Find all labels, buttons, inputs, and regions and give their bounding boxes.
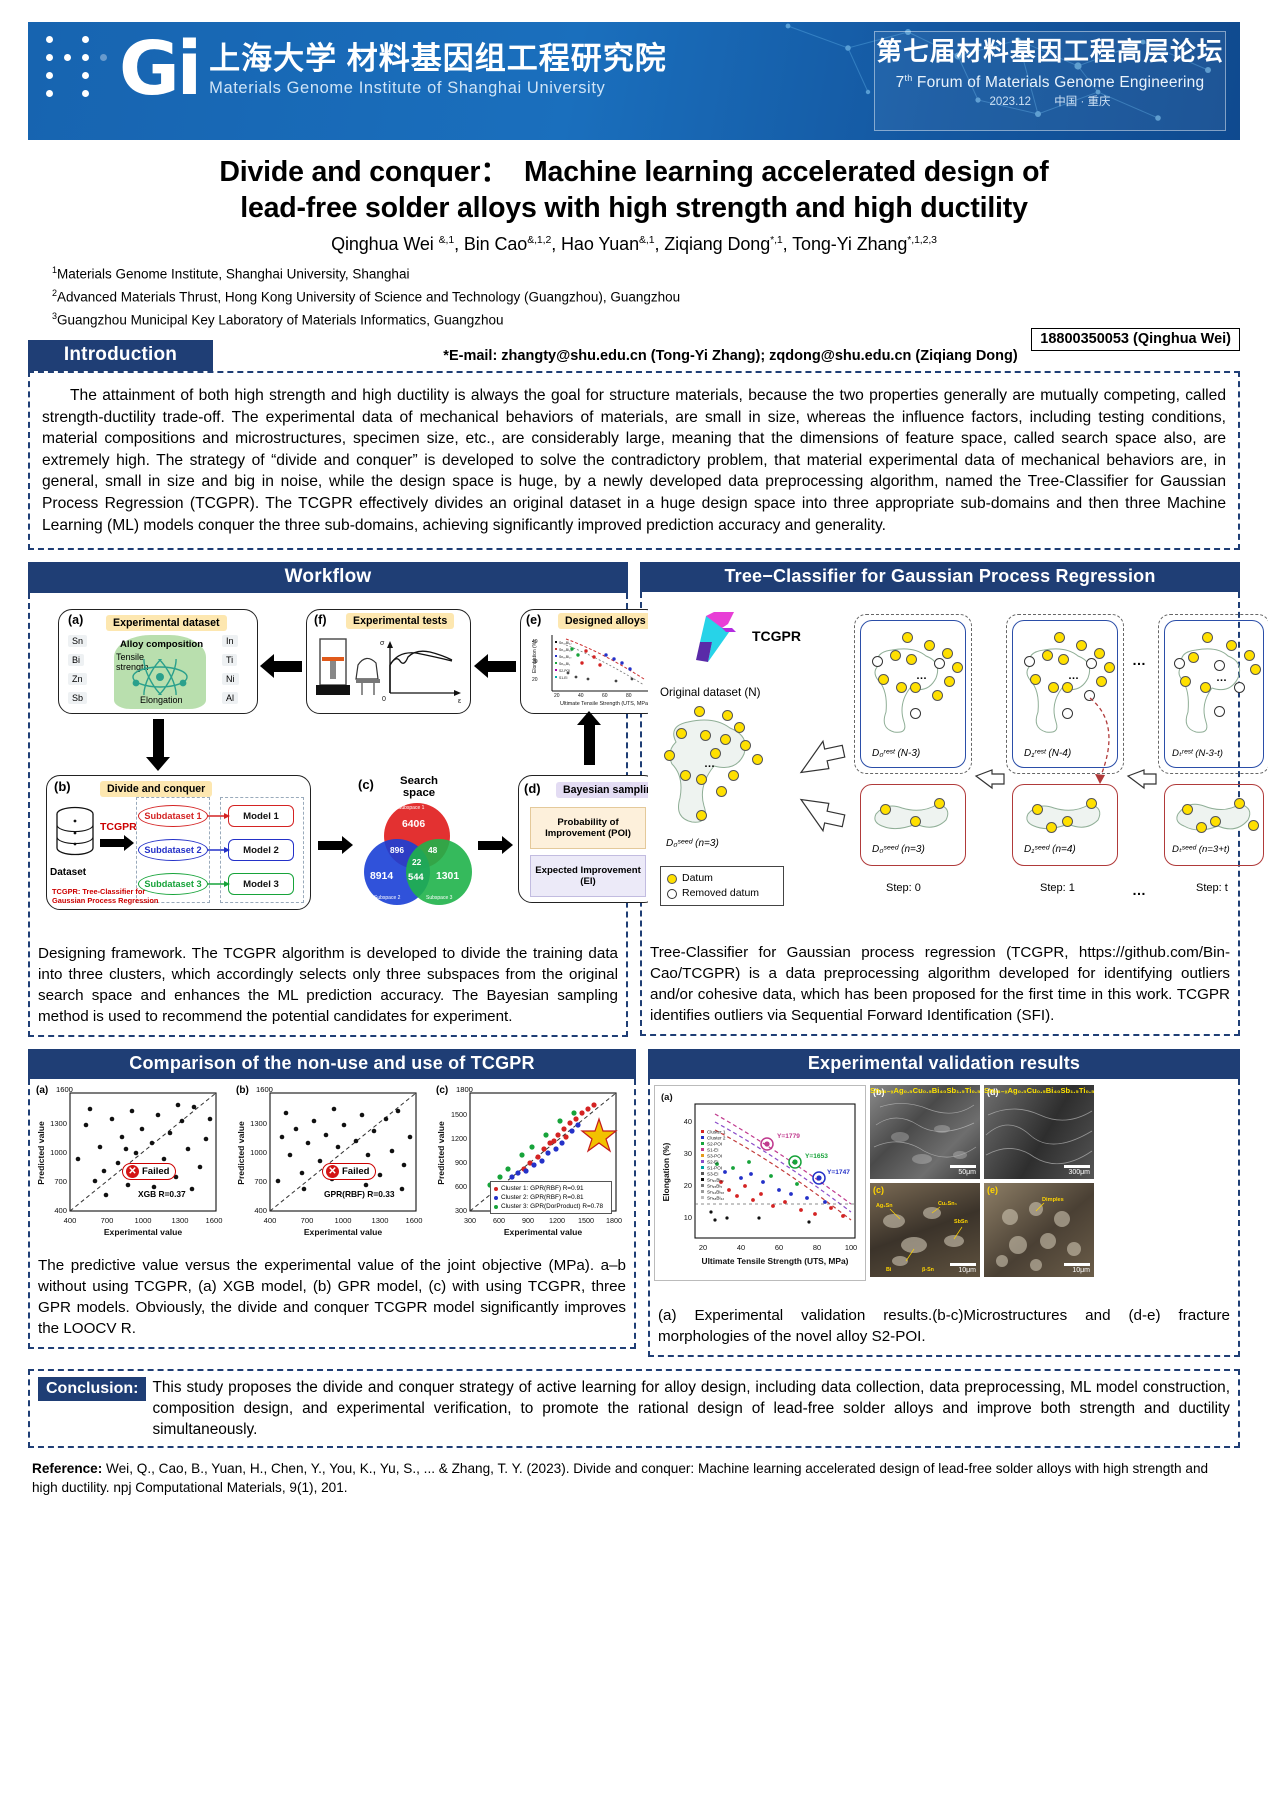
failed-x-icon: ✕: [126, 1165, 139, 1178]
svg-text:Sn₉₀Bi₁₀: Sn₉₀Bi₁₀: [559, 655, 572, 659]
svg-text:Elongation (%): Elongation (%): [661, 1143, 671, 1202]
sem-image-b: (b) Sn₅₈₋ₓAg₀.₅Cu₀.₅Bi₄₀Sb₁.₅Ti₀.₅: [870, 1085, 980, 1179]
element-chip-ni: Ni: [222, 673, 239, 685]
svg-text:600: 600: [493, 1216, 505, 1225]
svg-text:Experimental value: Experimental value: [304, 1227, 383, 1237]
venn-label-subspace-3: Subspace 3: [426, 895, 452, 901]
svg-text:Dimples: Dimples: [1042, 1197, 1064, 1203]
bottom-columns: Comparison of the non-use and use of TCG…: [28, 1049, 1240, 1357]
svg-text:1300: 1300: [250, 1119, 267, 1128]
svg-text:20: 20: [554, 693, 560, 699]
blob-term-elongation: Elongation: [140, 695, 183, 705]
arrow-d-to-e: [584, 723, 595, 765]
cluster3-swatch-icon: [494, 1205, 498, 1209]
svg-text:300: 300: [455, 1206, 467, 1215]
forum-date: 2023.12: [989, 96, 1031, 108]
workflow-tag-e: Designed alloys: [558, 613, 653, 629]
reference-text: Wei, Q., Cao, B., Yuan, H., Chen, Y., Yo…: [32, 1461, 1208, 1495]
svg-text:S1-EI: S1-EI: [707, 1148, 719, 1153]
arrowhead-dataset: [124, 835, 134, 851]
arrow-b-to-c: [318, 841, 344, 850]
section-header-comparison: Comparison of the non-use and use of TCG…: [28, 1049, 636, 1079]
original-dataset-label: Original dataset (N): [660, 686, 761, 699]
svg-text:1300: 1300: [372, 1216, 389, 1225]
element-chip-bi: Bi: [68, 654, 84, 666]
forum-title-en: 7th Forum of Materials Genome Engineerin…: [875, 68, 1225, 93]
validation-figures: (a) 40302010 204060 80100 Ultimate Tensi…: [650, 1079, 1238, 1287]
atom-icon: [128, 659, 192, 695]
chart-c-legend: Cluster 1: GPR(RBF) R=0.91 Cluster 2: GP…: [490, 1181, 612, 1214]
legend-row-cluster-3: Cluster 3: GPR(DorProduct) R=0.78: [494, 1202, 608, 1211]
svg-text:Y=1779: Y=1779: [777, 1133, 800, 1140]
svg-text:Y=1653: Y=1653: [805, 1153, 828, 1160]
stept-label: Step: t: [1196, 882, 1228, 894]
svg-text:400: 400: [54, 1206, 67, 1215]
tcgpr-panel: TCGPR Original dataset (N): [640, 592, 1240, 1036]
arrow-f-to-a: [272, 661, 302, 672]
sem-scale-c: 10μm: [958, 1267, 976, 1274]
original-cluster-outline: [658, 702, 808, 832]
mid-columns: Workflow (a) Experimental dataset Alloy …: [28, 562, 1240, 1037]
forum-badge: 第七届材料基因工程高层论坛 7th Forum of Materials Gen…: [874, 31, 1226, 131]
legend-label-removed: Removed datum: [682, 886, 759, 901]
forum-meta: 2023.12 中国 · 重庆: [875, 94, 1225, 111]
model-2: Model 2: [228, 839, 294, 861]
venn-value-6406: 6406: [402, 819, 425, 830]
validation-column: Experimental validation results (a) 4030…: [648, 1049, 1240, 1357]
author-list: Qinghua Wei &,1, Bin Cao&,1,2, Hao Yuan&…: [28, 234, 1240, 255]
svg-text:1200: 1200: [451, 1134, 467, 1143]
dot-grid-icon: [46, 36, 111, 101]
sem-scale-d: 300μm: [1068, 1169, 1090, 1176]
reference-label: Reference:: [32, 1461, 102, 1476]
arrowhead-d-to-e: [577, 711, 601, 725]
scalebar-icon-b: [950, 1165, 976, 1168]
svg-text:20: 20: [532, 677, 538, 683]
chart-a-r-note: XGB R=0.37: [138, 1189, 186, 1199]
poster-root: Gi 上海大学 材料基因组工程研究院 Materials Genome Inst…: [0, 22, 1268, 1815]
svg-text:1200: 1200: [549, 1216, 565, 1225]
comparison-charts: (a) 1600 400700100013001600 400700100013…: [30, 1079, 634, 1247]
sem-image-d: (d) Sn₅₈₋ₓAg₀.₅Cu₀.₅Bi₄₀Sb₁.₅Ti₀.₅ 3: [984, 1085, 1094, 1179]
affiliation-item: 1Materials Genome Institute, Shanghai Un…: [52, 261, 1240, 284]
legend-row-cluster-2: Cluster 2: GPR(RBF) R=0.81: [494, 1193, 608, 1202]
workflow-label-b: (b): [54, 779, 71, 794]
element-chip-sn: Sn: [68, 635, 87, 647]
svg-text:ε: ε: [458, 698, 461, 705]
workflow-label-e: (e): [526, 613, 541, 627]
scalebar-icon-e: [1064, 1263, 1090, 1266]
validation-panel: (a) 40302010 204060 80100 Ultimate Tensi…: [648, 1079, 1240, 1357]
arrowhead-f-to-a: [260, 654, 274, 678]
svg-text:SbSn: SbSn: [954, 1219, 968, 1225]
ellipsis-dots: …: [1216, 672, 1227, 684]
subdataset-to-model-arrows: [206, 803, 232, 901]
svg-text:40: 40: [578, 693, 584, 699]
svg-text:1000: 1000: [50, 1148, 67, 1157]
venn-value-8914: 8914: [370, 871, 393, 882]
venn-value-48: 48: [428, 845, 437, 855]
svg-text:700: 700: [254, 1177, 267, 1186]
dataset-label: Dataset: [50, 867, 86, 878]
venn-label-subspace-1: Subspace 1: [398, 805, 424, 811]
svg-text:300: 300: [464, 1216, 476, 1225]
chart-c: (c) 1800 300600900 120015001800 30060090…: [434, 1085, 630, 1245]
split-arrows-icon: [796, 708, 852, 858]
scalebar-icon-d: [1064, 1165, 1090, 1168]
element-chip-al: Al: [222, 692, 238, 704]
svg-text:S3-EI: S3-EI: [707, 1172, 719, 1177]
svg-text:Predicted value: Predicted value: [436, 1121, 446, 1185]
removed-datum-swatch-icon: [667, 889, 677, 899]
tcgpr-caption: Tree-Classifier for Gaussian process reg…: [642, 934, 1238, 1034]
sem-image-e: (e) Dimples 10μm: [984, 1183, 1094, 1277]
venn-value-22: 22: [412, 857, 421, 867]
comparison-caption: The predictive value versus the experime…: [30, 1247, 634, 1347]
mgi-logo: Gi 上海大学 材料基因组工程研究院 Materials Genome Inst…: [46, 36, 667, 101]
header-banner: Gi 上海大学 材料基因组工程研究院 Materials Genome Inst…: [28, 22, 1240, 140]
svg-text:S2-POI: S2-POI: [559, 669, 570, 673]
workflow-label-d: (d): [524, 781, 541, 796]
chart-a-failed-text: Failed: [142, 1166, 169, 1177]
tcgpr-figure-body: TCGPR Original dataset (N): [642, 592, 1238, 934]
workflow-column: Workflow (a) Experimental dataset Alloy …: [28, 562, 628, 1037]
svg-text:Cluster 2: Cluster 2: [707, 1136, 726, 1141]
svg-text:Sn₄₂Bi₅₈: Sn₄₂Bi₅₈: [707, 1190, 724, 1195]
svg-text:600: 600: [455, 1182, 467, 1191]
svg-text:900: 900: [455, 1158, 467, 1167]
designed-alloys-miniplot: 40 30 20 Elongation (%) 20 40 60 80 Ulti…: [526, 629, 656, 711]
arrowhead-c-to-d: [502, 836, 513, 854]
svg-text:1500: 1500: [451, 1110, 467, 1119]
cluster1-swatch-icon: [494, 1187, 498, 1191]
svg-text:Ultimate Tensile Strength (UTS: Ultimate Tensile Strength (UTS, MPa): [702, 1256, 849, 1266]
svg-text:60: 60: [602, 693, 608, 699]
svg-text:60: 60: [775, 1243, 783, 1252]
workflow-tag-b: Divide and conquer: [100, 781, 212, 797]
svg-text:1000: 1000: [335, 1216, 352, 1225]
workflow-label-f: (f): [314, 613, 327, 627]
chart-c-legend-2: Cluster 2: GPR(RBF) R=0.81: [501, 1193, 584, 1202]
arrow-e-to-f: [486, 661, 516, 672]
svg-text:Elongation (%): Elongation (%): [532, 640, 538, 673]
failed-x-icon: ✕: [326, 1165, 339, 1178]
svg-text:30: 30: [684, 1149, 692, 1158]
svg-text:Experimental value: Experimental value: [504, 1227, 583, 1237]
sem-scale-e: 10μm: [1072, 1267, 1090, 1274]
tcgpr-logo-icon: [688, 610, 746, 668]
model-3: Model 3: [228, 873, 294, 895]
venn-label-subspace-2: Subspace 2: [374, 895, 400, 901]
conclusion-panel: Conclusion: This study proposes the divi…: [28, 1369, 1240, 1448]
svg-text:1600: 1600: [206, 1216, 223, 1225]
svg-text:20: 20: [684, 1181, 692, 1190]
svg-text:20: 20: [699, 1243, 707, 1252]
chart-c-canvas: 300600900 120015001800 300600900 1200150…: [434, 1085, 630, 1245]
forum-place: 中国 · 重庆: [1054, 96, 1110, 108]
svg-text:S1-POI: S1-POI: [707, 1166, 722, 1171]
university-name-en: Materials Genome Institute of Shanghai U…: [209, 78, 667, 98]
chart-b-r-note: GPR(RBF) R=0.33: [324, 1189, 395, 1199]
page-title: Divide and conquer： Machine learning acc…: [28, 154, 1240, 226]
svg-text:100: 100: [845, 1243, 857, 1252]
svg-text:Sn₄₂Bi₅₈: Sn₄₂Bi₅₈: [559, 648, 572, 652]
tcgpr-column: Tree−Classifier for Gaussian Process Reg…: [640, 562, 1240, 1037]
svg-text:700: 700: [54, 1177, 67, 1186]
svg-text:700: 700: [101, 1216, 114, 1225]
introduction-panel: The attainment of both high strength and…: [28, 371, 1240, 550]
ellipsis-dots: …: [704, 758, 715, 770]
workflow-diagram: (a) Experimental dataset Alloy compositi…: [36, 599, 620, 929]
tcgpr-footnote: TCGPR: Tree-Classifier for Gaussian Proc…: [52, 887, 162, 905]
step0-label: Step: 0: [886, 882, 921, 894]
affiliation-item: 2Advanced Materials Thrust, Hong Kong Un…: [52, 284, 1240, 307]
svg-text:Predicted value: Predicted value: [36, 1121, 46, 1185]
step1-seed-label: D₁ˢᵉᵉᵈ (n=4): [1024, 844, 1076, 855]
arrow-step1-to-stept: [1126, 768, 1160, 798]
arrowhead-e-to-f: [474, 654, 488, 678]
sem-column-de: (d) Sn₅₈₋ₓAg₀.₅Cu₀.₅Bi₄₀Sb₁.₅Ti₀.₅ 3: [984, 1085, 1094, 1281]
svg-text:80: 80: [626, 693, 632, 699]
chart-a-failed-badge: ✕ Failed: [122, 1163, 176, 1180]
tcgpr-diagram: TCGPR Original dataset (N): [648, 598, 1232, 928]
section-header-workflow: Workflow: [28, 562, 628, 593]
svg-text:Sn₅₈Bi₄₂: Sn₅₈Bi₄₂: [559, 641, 572, 645]
comparison-column: Comparison of the non-use and use of TCG…: [28, 1049, 636, 1357]
svg-text:1300: 1300: [50, 1119, 67, 1128]
svg-text:S2-POI: S2-POI: [707, 1142, 722, 1147]
workflow-panel: (a) Experimental dataset Alloy compositi…: [28, 593, 628, 1037]
workflow-tag-c: Search space: [388, 775, 450, 799]
conclusion-text: This study proposes the divide and conqu…: [152, 1377, 1230, 1440]
stept-seed-label: Dₜˢᵉᵉᵈ (n=3+t): [1172, 844, 1230, 855]
legend-row-datum: Datum: [667, 871, 777, 886]
sem-image-c: (c): [870, 1183, 980, 1277]
ellipsis-dots: …: [1132, 652, 1146, 668]
blob-term-alloy-composition: Alloy composition: [120, 639, 203, 650]
arrowhead-a-to-b: [146, 757, 170, 771]
affiliation-item: 3Guangzhou Municipal Key Laboratory of M…: [52, 307, 1240, 330]
logo-gi-text: Gi: [119, 38, 199, 100]
svg-text:S2-EI: S2-EI: [707, 1160, 719, 1165]
svg-text:σ: σ: [380, 640, 385, 647]
workflow-tag-f: Experimental tests: [346, 613, 454, 629]
svg-text:400: 400: [254, 1206, 267, 1215]
database-icon: [52, 805, 98, 861]
svg-text:(a): (a): [661, 1092, 673, 1103]
svg-text:40: 40: [737, 1243, 745, 1252]
svg-text:0: 0: [382, 696, 386, 703]
svg-text:400: 400: [64, 1216, 77, 1225]
svg-text:40: 40: [684, 1117, 692, 1126]
ellipsis-dots: …: [1132, 882, 1146, 898]
legend-row-removed: Removed datum: [667, 886, 777, 901]
arrow-c-to-d: [478, 841, 504, 850]
conclusion-tag: Conclusion:: [38, 1377, 146, 1401]
section-header-tcgpr: Tree−Classifier for Gaussian Process Reg…: [640, 562, 1240, 592]
chart-b-failed-badge: ✕ Failed: [322, 1163, 376, 1180]
star-marker-icon: [582, 1119, 616, 1151]
svg-text:900: 900: [522, 1216, 534, 1225]
svg-text:Ag₃Sn: Ag₃Sn: [876, 1203, 893, 1209]
svg-text:1300: 1300: [172, 1216, 189, 1225]
svg-text:1600: 1600: [406, 1216, 423, 1225]
seed-start-label: D₀ˢᵉᵉᵈ (n=3): [666, 838, 719, 849]
venn-value-896: 896: [390, 845, 404, 855]
scalebar-icon-c: [950, 1263, 976, 1266]
chart-c-legend-3: Cluster 3: GPR(DorProduct) R=0.78: [501, 1202, 603, 1211]
validation-chart-a: (a) 40302010 204060 80100 Ultimate Tensi…: [654, 1085, 866, 1281]
svg-text:Cu₆Sn₅: Cu₆Sn₅: [938, 1201, 958, 1207]
svg-text:S1-EI: S1-EI: [559, 676, 568, 680]
workflow-label-c: (c): [358, 777, 374, 792]
arrowhead-b-to-c: [342, 836, 353, 854]
svg-text:1500: 1500: [578, 1216, 594, 1225]
element-chip-in: In: [222, 635, 238, 647]
chart-b-failed-text: Failed: [342, 1166, 369, 1177]
element-chip-sb: Sb: [68, 692, 87, 704]
step0-rest-label: D₀ʳᵉˢᵗ (N-3): [872, 748, 920, 759]
sem-column-bc: (b) Sn₅₈₋ₓAg₀.₅Cu₀.₅Bi₄₀Sb₁.₅Ti₀.₅: [870, 1085, 980, 1281]
svg-text:1800: 1800: [606, 1216, 622, 1225]
svg-text:1000: 1000: [135, 1216, 152, 1225]
section-header-introduction: Introduction: [28, 340, 213, 371]
svg-text:Cluster 1: Cluster 1: [707, 1130, 726, 1135]
workflow-label-a: (a): [68, 613, 83, 627]
svg-text:10: 10: [684, 1213, 692, 1222]
svg-text:Y=1747: Y=1747: [827, 1169, 850, 1176]
subdataset-1: Subdataset 1: [138, 805, 208, 827]
svg-text:Sn₉₅Bi₅: Sn₉₅Bi₅: [707, 1184, 722, 1189]
svg-text:80: 80: [813, 1243, 821, 1252]
comparison-panel: (a) 1600 400700100013001600 400700100013…: [28, 1079, 636, 1349]
svg-text:Experimental value: Experimental value: [104, 1227, 183, 1237]
sem-scale-b: 50μm: [958, 1169, 976, 1176]
university-name-cn: 上海大学 材料基因组工程研究院: [209, 40, 667, 78]
tcgpr-legend: Datum Removed datum: [660, 866, 784, 906]
svg-text:Ultimate Tensile Strength (UTS: Ultimate Tensile Strength (UTS, MPa): [560, 701, 650, 707]
workflow-caption: Designing framework. The TCGPR algorithm…: [30, 935, 626, 1035]
cluster2-swatch-icon: [494, 1196, 498, 1200]
svg-text:Sn₉₀Bi₁₀: Sn₉₀Bi₁₀: [707, 1178, 724, 1183]
workflow-tag-a: Experimental dataset: [106, 615, 227, 631]
bayes-item-poi: Probability of Improvement (POI): [530, 807, 646, 849]
svg-text:Predicted value: Predicted value: [236, 1121, 246, 1185]
forum-title-cn: 第七届材料基因工程高层论坛: [875, 37, 1225, 68]
validation-chart-a-canvas: (a) 40302010 204060 80100 Ultimate Tensi…: [655, 1086, 867, 1282]
svg-text:Sn₉₅Bi₅: Sn₉₅Bi₅: [559, 662, 571, 666]
element-chip-ti: Ti: [222, 654, 237, 666]
bayes-item-ei: Expected Improvement (EI): [530, 855, 646, 897]
arrow-step0-to-step1: [974, 768, 1008, 798]
chart-a: (a) 1600 400700100013001600 400700100013…: [34, 1085, 230, 1245]
chart-b: (b) 1600 400700100013001600 400700100013…: [234, 1085, 430, 1245]
step1-rest-label: D₁ʳᵉˢᵗ (N-4): [1024, 748, 1071, 759]
svg-text:Bi: Bi: [886, 1267, 892, 1273]
legend-row-cluster-1: Cluster 1: GPR(RBF) R=0.91: [494, 1184, 608, 1193]
step1-label: Step: 1: [1040, 882, 1075, 894]
svg-text:S3-POI: S3-POI: [707, 1154, 722, 1159]
stept-rest-label: Dₜʳᵉˢᵗ (N-3-t): [1172, 748, 1223, 759]
svg-text:700: 700: [301, 1216, 314, 1225]
introduction-body: The attainment of both high strength and…: [30, 375, 1238, 548]
venn-value-544: 544: [408, 871, 424, 882]
svg-text:β-Sn: β-Sn: [922, 1267, 934, 1273]
svg-text:400: 400: [264, 1216, 277, 1225]
legend-label-datum: Datum: [682, 871, 713, 886]
model-1: Model 1: [228, 805, 294, 827]
workflow-figure-body: (a) Experimental dataset Alloy compositi…: [30, 593, 626, 935]
tcgpr-arrow-label: TCGPR: [100, 821, 137, 833]
venn-value-1301: 1301: [436, 871, 459, 882]
tensile-test-icon: 0 ε σ: [312, 631, 468, 711]
svg-text:Sn₅₈Bi₄₂: Sn₅₈Bi₄₂: [707, 1196, 724, 1201]
contact-phone-badge: 18800350053 (Qinghua Wei): [1031, 328, 1240, 351]
step0-seed-label: D₀ˢᵉᵉᵈ (n=3): [872, 844, 925, 855]
datum-swatch-icon: [667, 874, 677, 884]
ellipsis-dots: …: [1068, 670, 1079, 682]
tcgpr-brand-label: TCGPR: [752, 628, 801, 644]
introduction-text: The attainment of both high strength and…: [42, 385, 1226, 536]
subdataset-2: Subdataset 2: [138, 839, 208, 861]
arrow-a-to-b: [153, 719, 164, 761]
chart-c-legend-1: Cluster 1: GPR(RBF) R=0.91: [501, 1184, 584, 1193]
element-chip-zn: Zn: [68, 673, 87, 685]
affiliation-list: 1Materials Genome Institute, Shanghai Un…: [28, 261, 1240, 330]
arrow-dataset-to-subdatasets: [100, 839, 126, 847]
svg-text:1000: 1000: [250, 1148, 267, 1157]
reference-line: Reference: Wei, Q., Cao, B., Yuan, H., C…: [28, 1459, 1240, 1505]
section-header-validation: Experimental validation results: [648, 1049, 1240, 1079]
validation-caption: (a) Experimental validation results.(b-c…: [650, 1287, 1238, 1355]
ellipsis-dots: …: [916, 670, 927, 682]
